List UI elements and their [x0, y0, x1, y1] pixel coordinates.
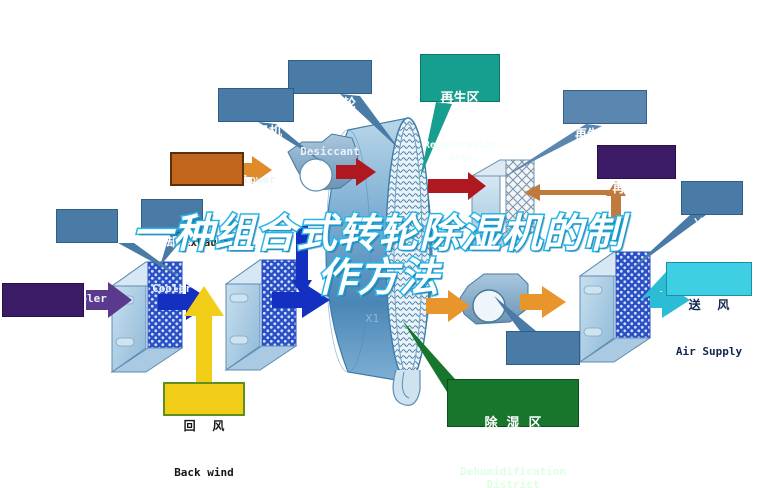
label-en: Regeneration Area	[421, 140, 499, 163]
label-cn: 回 风	[165, 420, 243, 433]
label-cn: 冷却器	[57, 246, 117, 259]
drain-duct	[393, 370, 420, 405]
label-en: Cooler	[142, 283, 202, 295]
label-en: Air Supply	[667, 346, 751, 358]
label-air-supply: 送 风 Air Supply	[666, 262, 752, 296]
label-en: Fresh Air	[598, 229, 675, 241]
label-cn: 冷却器	[682, 218, 742, 231]
label-cn: 再生风机	[219, 126, 293, 140]
label-en: Desiccant	[289, 146, 371, 158]
label-cn: 除 湿 区	[448, 417, 578, 431]
label-regen-area: 再生区 Regeneration Area	[420, 54, 500, 102]
label-cn: 送 风	[667, 299, 751, 312]
label-cn: 再生区	[421, 92, 499, 106]
label-desiccant-rotor: 除湿转轮 Desiccant	[288, 60, 372, 94]
label-regen-fresh-air: 再生风进 Fresh Air	[597, 145, 676, 179]
label-fresh-air-in: 新 风 Fresh Air	[2, 283, 84, 317]
label-cooler-right: 冷却器 Cooler	[681, 181, 743, 215]
label-cn: 再生风进	[598, 182, 675, 195]
diagram-canvas: X1	[0, 0, 757, 488]
label-cooler-left-1: 冷却器 Cooler	[56, 209, 118, 243]
label-regen-blower: 再生风机 Blower	[218, 88, 294, 122]
label-dehumid-district: 除 湿 区 Dehumidification District	[447, 379, 579, 427]
label-dehumid-blower: 除湿风机 Blower	[506, 331, 580, 365]
label-back-wind: 回 风 Back wind	[163, 382, 245, 416]
label-cn: 除湿转轮	[289, 98, 371, 112]
label-en: Fresh Air	[3, 367, 83, 379]
label-en: Dehumidification District	[448, 465, 578, 488]
label-regen-heater: 再生加热器 heater	[563, 90, 647, 124]
label-cooler-left-2: 冷却器 Cooler	[141, 199, 203, 233]
label-cn: 再生加热器	[564, 128, 646, 141]
label-cn: 新 风	[3, 320, 83, 333]
label-regen-exhaust: 再生风出 Exhaust	[170, 152, 244, 186]
label-cn: 冷却器	[142, 236, 202, 249]
label-en: Back wind	[165, 467, 243, 479]
svg-text:X1: X1	[365, 312, 380, 325]
